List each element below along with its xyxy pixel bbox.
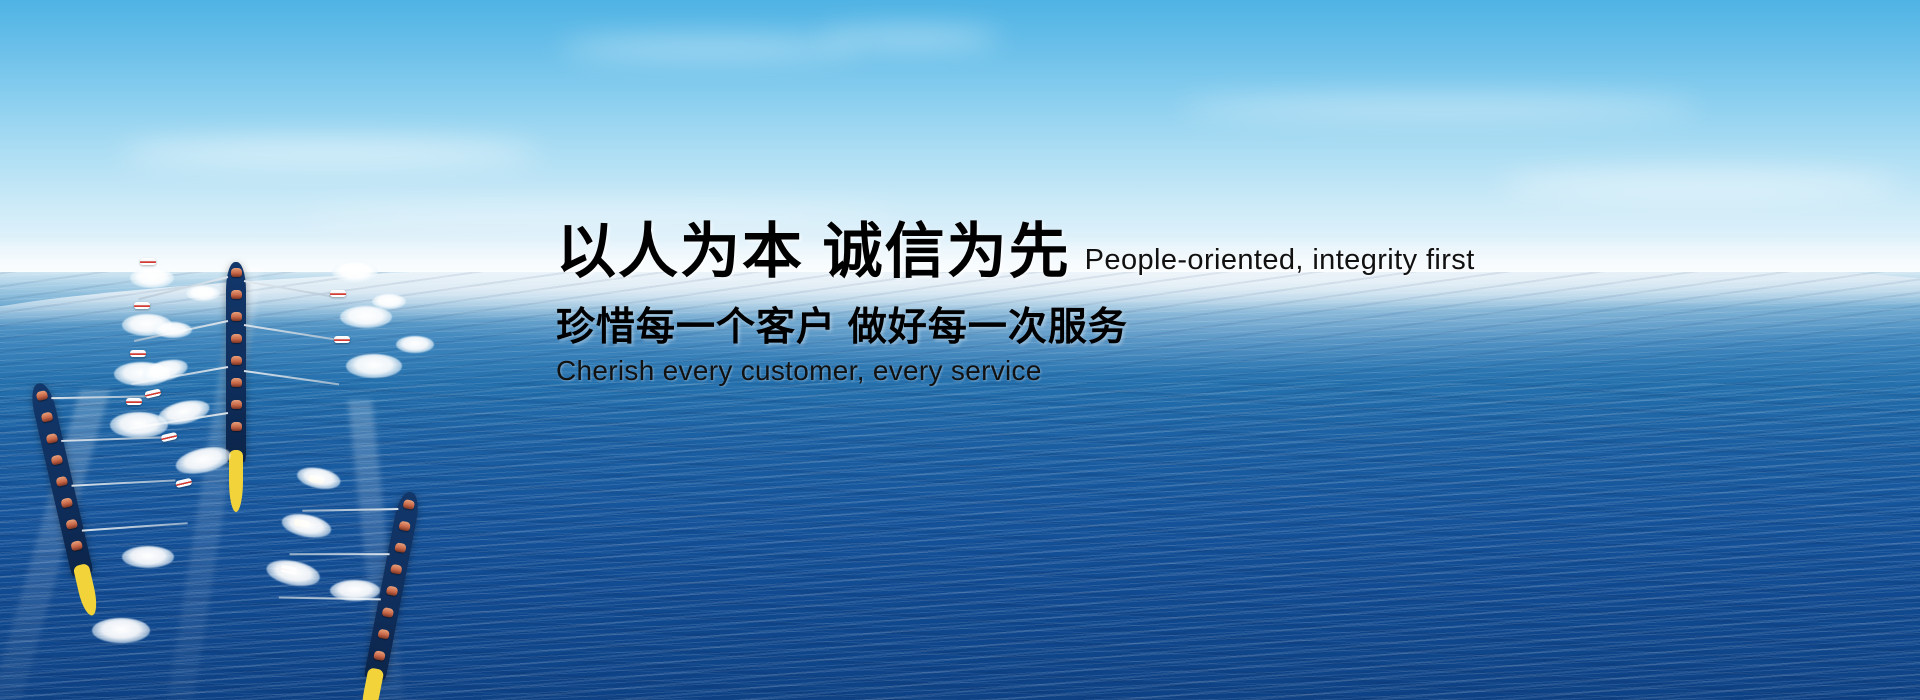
water-splash bbox=[92, 618, 150, 643]
rower bbox=[377, 629, 390, 640]
rower bbox=[403, 499, 416, 510]
water-splash bbox=[295, 464, 342, 492]
water-splash bbox=[346, 354, 402, 378]
cloud-wisp-icon bbox=[120, 140, 540, 166]
oar bbox=[244, 324, 337, 341]
hero-banner: 以人为本 诚信为先 People-oriented, integrity fir… bbox=[0, 0, 1920, 700]
rower bbox=[231, 378, 242, 387]
water-splash bbox=[186, 286, 220, 301]
rower bbox=[231, 312, 242, 321]
rower bbox=[231, 400, 242, 409]
rower bbox=[398, 521, 411, 532]
headline-row: 以人为本 诚信为先 People-oriented, integrity fir… bbox=[556, 222, 1856, 282]
cloud-wisp-icon bbox=[560, 38, 860, 58]
boat-bow-tip bbox=[229, 450, 243, 512]
rower bbox=[382, 607, 395, 618]
oar-blade bbox=[334, 336, 350, 343]
rower bbox=[394, 542, 407, 553]
rowing-boats-group bbox=[0, 250, 620, 700]
water-splash bbox=[130, 268, 174, 288]
water-splash bbox=[330, 580, 380, 601]
subtitle-cn: 珍惜每一个客户 做好每一次服务 bbox=[556, 306, 1856, 351]
oar-blade bbox=[161, 432, 178, 442]
oar-blade bbox=[126, 398, 142, 405]
oar-blade bbox=[175, 478, 192, 488]
rower bbox=[386, 585, 399, 596]
rower bbox=[373, 650, 386, 661]
oar bbox=[72, 479, 176, 486]
oar bbox=[290, 553, 390, 555]
water-splash bbox=[280, 510, 333, 541]
water-splash bbox=[372, 294, 406, 309]
oar-blade bbox=[134, 302, 150, 309]
water-splash bbox=[264, 556, 322, 590]
rower bbox=[231, 290, 242, 299]
rower bbox=[390, 564, 403, 575]
oar-blade bbox=[140, 258, 156, 265]
water-splash bbox=[122, 546, 174, 568]
water-splash bbox=[332, 262, 378, 282]
cloud-wisp-icon bbox=[1500, 170, 1900, 200]
oar-blade bbox=[330, 290, 346, 297]
water-splash bbox=[396, 336, 434, 353]
subtitle-en: Cherish every customer, every service bbox=[556, 355, 1856, 387]
page-title: 以人为本 诚信为先 bbox=[556, 222, 1071, 282]
oar bbox=[82, 522, 188, 531]
oar-blade bbox=[130, 350, 146, 357]
rower bbox=[231, 422, 242, 431]
rower bbox=[231, 268, 242, 277]
oar bbox=[302, 508, 398, 512]
boat-bow-tip bbox=[73, 563, 100, 617]
page-title-translation: People-oriented, integrity first bbox=[1085, 244, 1475, 282]
rower bbox=[231, 334, 242, 343]
cloud-wisp-icon bbox=[1180, 96, 1700, 120]
oar-blade bbox=[144, 388, 161, 398]
cloud-wisp-icon bbox=[820, 30, 1000, 46]
rower bbox=[231, 356, 242, 365]
water-splash bbox=[154, 322, 192, 338]
water-splash bbox=[340, 306, 392, 328]
banner-copy: 以人为本 诚信为先 People-oriented, integrity fir… bbox=[556, 222, 1856, 387]
oar bbox=[244, 370, 339, 385]
